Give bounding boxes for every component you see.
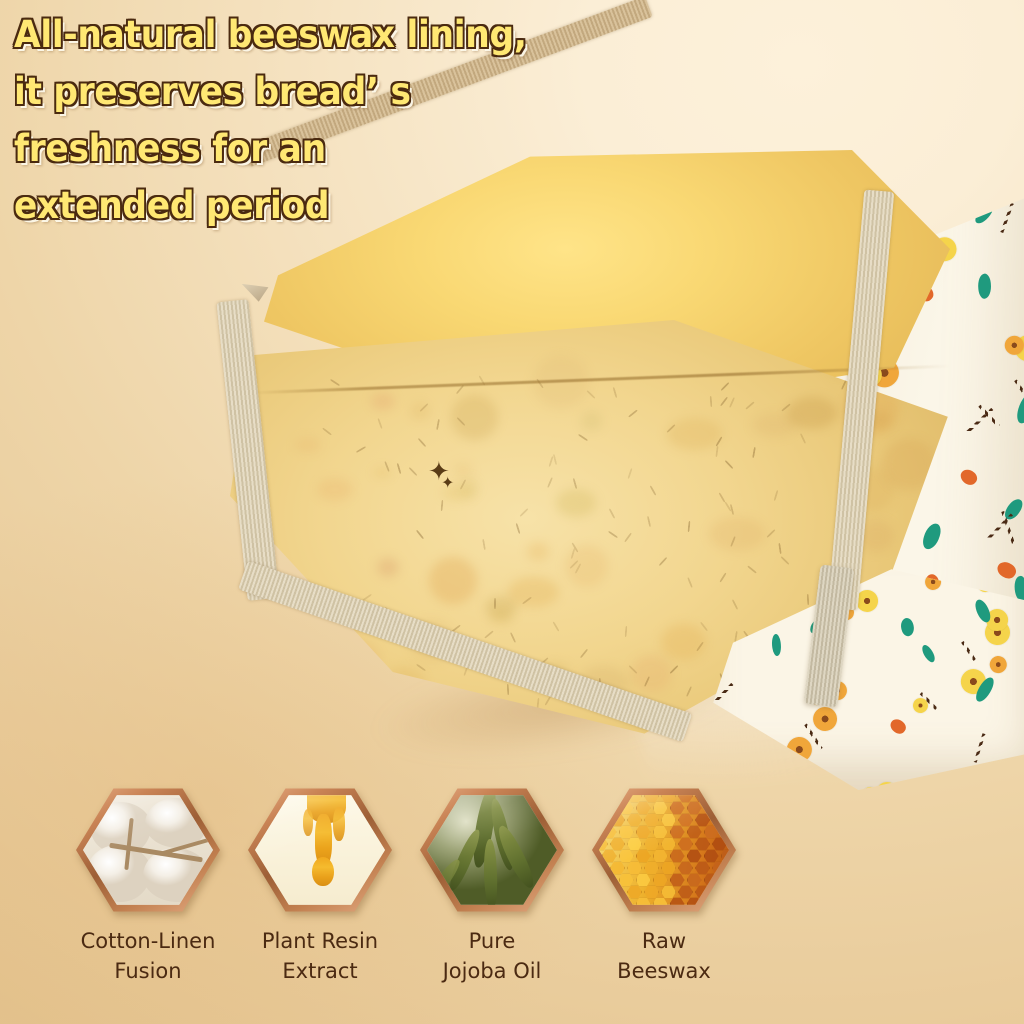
floral-motif-bud [1014, 762, 1023, 773]
wax-mottle [429, 557, 477, 605]
wax-texture-mark [409, 467, 418, 476]
sparkle-icon-small: ✦ [441, 476, 454, 492]
wax-mottle [581, 411, 601, 431]
wax-texture-mark [608, 531, 618, 539]
wax-texture-mark [516, 523, 521, 534]
wax-texture-mark [719, 572, 727, 582]
wax-texture-mark [773, 490, 778, 501]
honeycomb-cell [721, 801, 730, 815]
wax-texture-mark [580, 649, 588, 659]
wax-texture-mark [670, 664, 679, 673]
wax-texture-mark [720, 396, 728, 406]
floral-motif-sunflower [923, 171, 947, 195]
wax-texture-mark [519, 508, 528, 517]
wax-texture-mark [766, 528, 775, 537]
headline-line-2: it preserves bread’ s [14, 63, 591, 120]
wax-texture-mark [747, 565, 757, 573]
wax-texture-mark [377, 418, 383, 429]
honeycomb-cell [599, 813, 608, 827]
wax-mottle [454, 463, 472, 477]
wax-texture-mark [687, 577, 693, 588]
wax-texture-mark [553, 622, 560, 632]
wax-texture-mark [547, 477, 553, 488]
headline-block: All-natural beeswax lining, it preserves… [14, 6, 634, 234]
floral-motif-leaf [770, 634, 783, 658]
floral-motif-bud [887, 716, 908, 737]
wax-mottle [631, 655, 672, 691]
feature-label: Raw Beeswax [617, 926, 711, 986]
headline-line-1: All-natural beeswax lining, [14, 6, 591, 63]
badge-hexagon-cotton[interactable] [76, 786, 220, 914]
wax-texture-mark [724, 460, 733, 469]
wax-texture-mark [628, 409, 638, 417]
wax-texture-mark [484, 630, 494, 639]
floral-motif-sprig [961, 641, 976, 661]
feature-label-line2: Jojoba Oil [443, 956, 542, 986]
wax-mottle [527, 542, 549, 561]
wax-mottle [377, 558, 399, 577]
wax-texture-mark [436, 419, 440, 430]
badge-hexagon-beeswax[interactable] [592, 786, 736, 914]
badge-hexagon-resin[interactable] [248, 786, 392, 914]
wax-texture-mark [327, 654, 335, 664]
feature-label-line2: Beeswax [617, 956, 711, 986]
badge-hexagon-jojoba[interactable] [420, 786, 564, 914]
wax-texture-mark [440, 500, 443, 511]
feature-label: Cotton-Linen Fusion [81, 926, 216, 986]
wax-texture-mark [746, 401, 756, 410]
honeycomb-cell [602, 801, 617, 815]
wax-texture-mark [612, 387, 617, 398]
wax-texture-mark [330, 378, 340, 386]
floral-motif-sprig [973, 733, 985, 763]
wax-texture-mark [686, 686, 692, 697]
wax-texture-mark [710, 396, 713, 407]
wax-mottle [312, 646, 336, 663]
wax-texture-mark [507, 684, 510, 695]
wax-texture-mark [807, 594, 810, 605]
wax-texture-mark [718, 493, 725, 503]
wax-texture-mark [732, 599, 739, 610]
feature-label-line1: Cotton-Linen [81, 926, 216, 956]
feature-raw-beeswax[interactable]: Raw Beeswax [578, 786, 750, 986]
wax-texture-mark [720, 382, 729, 391]
wax-mottle [295, 438, 321, 451]
wax-mottle [661, 624, 707, 661]
wax-mottle [371, 393, 395, 409]
wax-texture-mark [577, 434, 587, 442]
wax-texture-mark [396, 463, 401, 474]
floral-motif-leaf [959, 154, 983, 189]
wax-texture-mark [647, 516, 651, 527]
wax-texture-mark [649, 486, 656, 497]
wax-texture-mark [625, 626, 628, 637]
wax-texture-mark [800, 433, 807, 444]
wax-texture-mark [752, 447, 756, 458]
feature-label: Plant Resin Extract [262, 926, 378, 986]
feature-label-line2: Extract [262, 956, 378, 986]
wax-texture-mark [781, 556, 790, 565]
floral-motif-leaf [920, 643, 939, 664]
feature-label-line1: Raw [617, 926, 711, 956]
honeycomb-cell [599, 793, 608, 803]
honeycomb-cell [721, 873, 730, 887]
honeycomb-cell [602, 897, 617, 907]
wax-texture-mark [778, 543, 782, 554]
honeycomb-cell [721, 897, 730, 907]
honeycomb-cell [599, 885, 608, 899]
wax-texture-mark [356, 446, 367, 453]
feature-label-line2: Fusion [81, 956, 216, 986]
feature-label-line1: Pure [443, 926, 542, 956]
headline-line-3: freshness for an [14, 120, 591, 177]
wax-mottle [787, 397, 837, 429]
wax-texture-mark [735, 630, 739, 641]
product-marketing-image: All-natural beeswax lining, it preserves… [0, 0, 1024, 1024]
wax-texture-mark [322, 427, 332, 435]
floral-motif-leaf [898, 617, 917, 639]
floral-motif-sunflower [808, 702, 842, 736]
wax-texture-mark [553, 454, 558, 465]
feature-label-line1: Plant Resin [262, 926, 378, 956]
wax-mottle [508, 577, 558, 607]
wax-mottle [667, 418, 721, 449]
feature-pure-jojoba-oil[interactable]: Pure Jojoba Oil [406, 786, 578, 986]
wax-texture-mark [418, 438, 427, 448]
floral-motif-sunflower [987, 653, 1010, 676]
wax-texture-mark [587, 390, 596, 399]
honeycomb-cell [712, 793, 727, 803]
honeycomb-cell [712, 885, 727, 899]
wax-texture-mark [482, 539, 486, 550]
wax-texture-mark [510, 632, 516, 643]
feature-plant-resin-extract[interactable]: Plant Resin Extract [234, 786, 406, 986]
wax-mottle [709, 517, 765, 551]
feature-cotton-linen-fusion[interactable]: Cotton-Linen Fusion [62, 786, 234, 986]
wax-texture-mark [572, 478, 577, 489]
feature-label: Pure Jojoba Oil [443, 926, 542, 986]
wax-texture-mark [687, 521, 690, 532]
wax-mottle [317, 478, 354, 501]
wax-mottle [489, 608, 513, 623]
wax-mottle [556, 489, 596, 518]
wax-texture-mark [658, 557, 667, 566]
wax-texture-mark [609, 508, 616, 519]
wax-texture-mark [416, 530, 424, 540]
wax-texture-mark [729, 397, 735, 408]
headline-line-4: extended period [14, 177, 591, 234]
wax-texture-mark [627, 468, 632, 479]
feature-badge-row: Cotton-Linen Fusion [0, 786, 1024, 1024]
wax-texture-mark [624, 532, 632, 542]
wax-texture-mark [715, 446, 718, 457]
